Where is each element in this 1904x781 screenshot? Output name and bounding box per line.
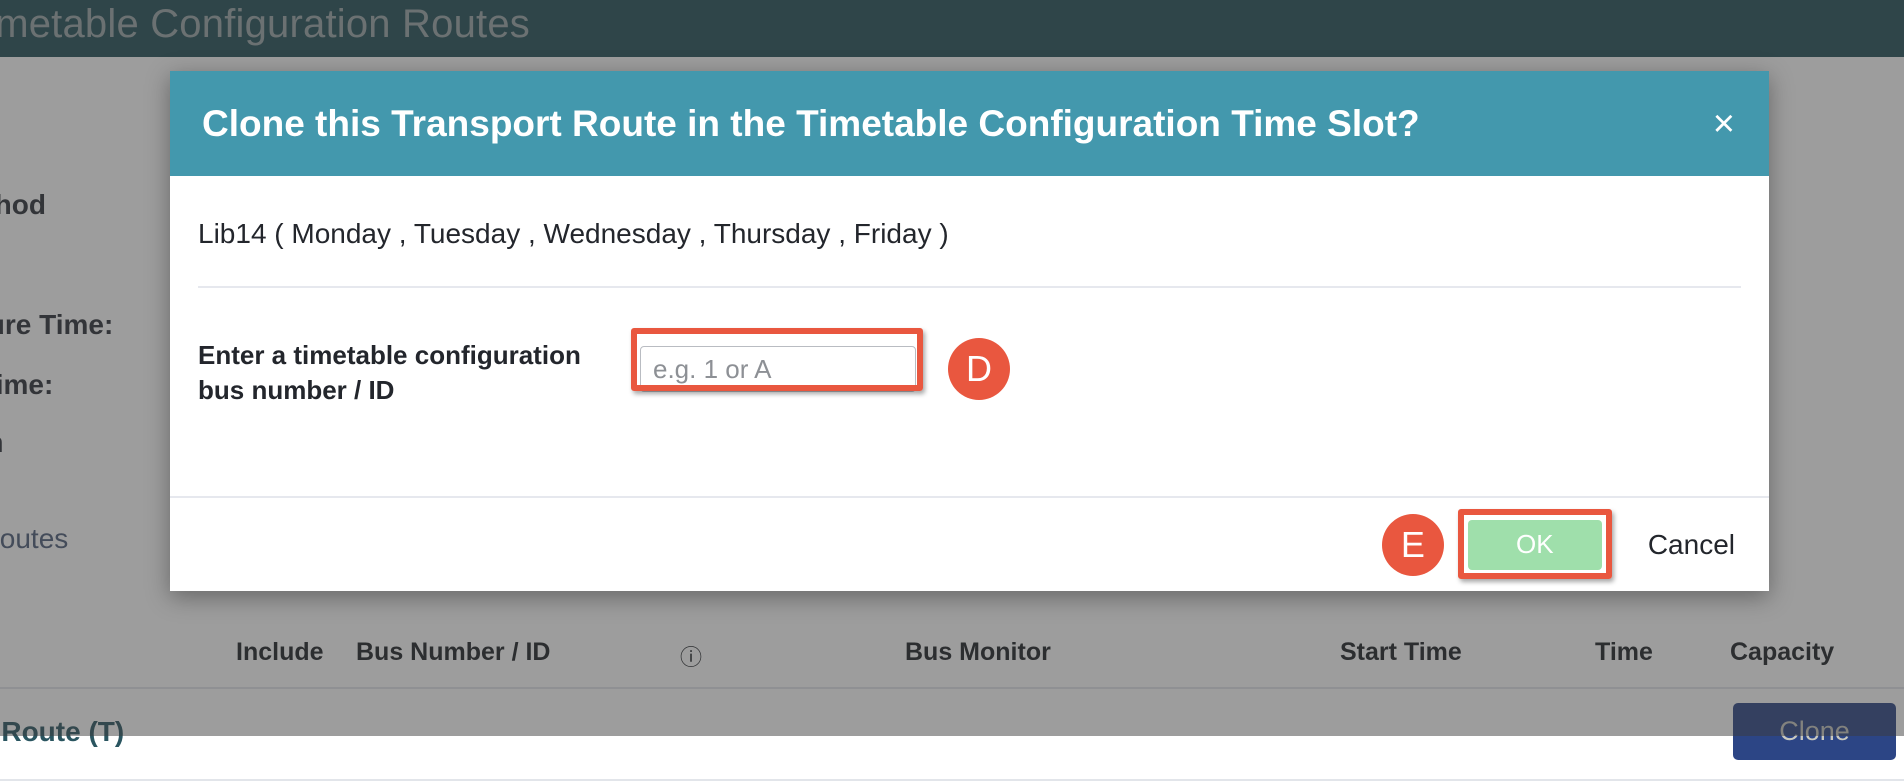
modal-header: Clone this Transport Route in the Timeta… [170,71,1769,176]
bus-number-input-wrap: D [640,338,1010,400]
bus-number-label: Enter a timetable configuration bus numb… [198,338,618,408]
modal-title: Clone this Transport Route in the Timeta… [202,103,1420,145]
bus-number-input[interactable] [640,346,916,392]
annotation-badge-e: E [1382,514,1444,576]
ok-button-wrap: OK [1468,520,1602,570]
modal-footer: E OK Cancel [170,496,1769,591]
annotation-badge-d: D [948,338,1010,400]
body-divider [198,286,1741,288]
ok-button[interactable]: OK [1468,520,1602,570]
bus-number-field-row: Enter a timetable configuration bus numb… [198,338,1741,408]
modal-body: Lib14 ( Monday , Tuesday , Wednesday , T… [170,176,1769,496]
clone-route-modal: Clone this Transport Route in the Timeta… [170,71,1769,591]
close-icon[interactable]: × [1707,105,1741,143]
route-summary-text: Lib14 ( Monday , Tuesday , Wednesday , T… [198,176,1741,250]
cancel-button[interactable]: Cancel [1642,528,1741,562]
